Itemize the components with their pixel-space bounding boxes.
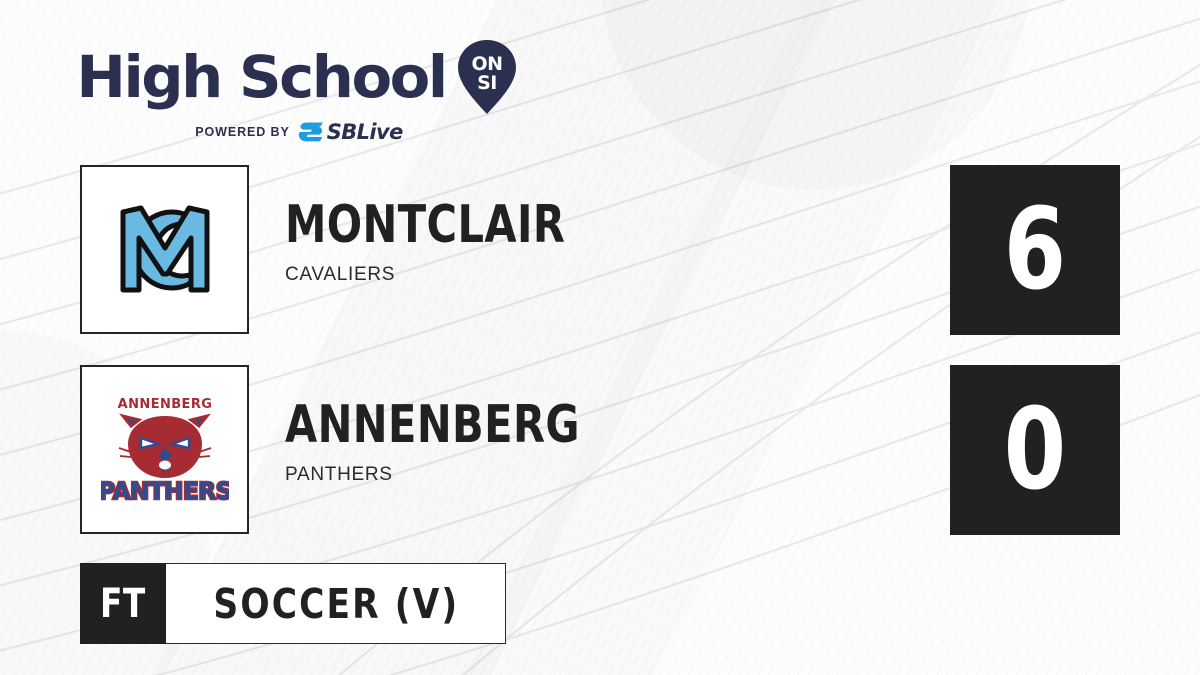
montclair-cavaliers-logo-icon: [101, 186, 229, 314]
away-team-text: ANNENBERG PANTHERS: [285, 399, 654, 486]
powered-by-row: POWERED BY SBLive: [195, 120, 402, 144]
on-si-pin-icon: ON SI: [456, 38, 518, 116]
brand-logo-row: High School ON SI: [80, 38, 518, 116]
home-team-score-box: 6: [950, 165, 1120, 335]
sblive-wordmark: SBLive: [327, 120, 403, 144]
game-status-period: FT: [80, 563, 166, 644]
annenberg-logo-bottom-text: PANTHERS: [101, 479, 229, 505]
game-sport-label: SOCCER (V): [213, 580, 459, 628]
game-status-bar: FT SOCCER (V): [80, 563, 506, 644]
annenberg-logo-top-text: ANNENBERG: [117, 397, 212, 412]
game-status-period-label: FT: [100, 581, 146, 627]
pin-label-si: SI: [477, 72, 497, 94]
away-team-score: 0: [1004, 394, 1066, 506]
annenberg-panthers-logo-icon: ANNENBERG PANTHERS: [101, 386, 229, 514]
home-team-score: 6: [1004, 194, 1066, 306]
brand-wordmark: High School: [76, 50, 445, 105]
away-team-logo-box: ANNENBERG PANTHERS: [80, 365, 249, 534]
powered-by-label: POWERED BY: [195, 125, 289, 139]
game-sport-label-box: SOCCER (V): [166, 563, 506, 644]
home-team-text: MONTCLAIR CAVALIERS: [285, 199, 635, 286]
away-team-mascot: PANTHERS: [285, 464, 654, 486]
away-team-name: ANNENBERG: [285, 399, 580, 451]
scoreboard-graphic: High School ON SI POWERED BY SBLive: [0, 0, 1200, 675]
home-team-name: MONTCLAIR: [285, 199, 565, 251]
home-team-logo-box: [80, 165, 249, 334]
away-team-score-box: 0: [950, 365, 1120, 535]
sblive-logo: SBLive: [298, 120, 403, 144]
brand-logo-lockup: High School ON SI POWERED BY SBLive: [80, 38, 518, 144]
home-team-mascot: CAVALIERS: [285, 264, 635, 286]
sblive-s-mark-icon: [298, 121, 324, 143]
